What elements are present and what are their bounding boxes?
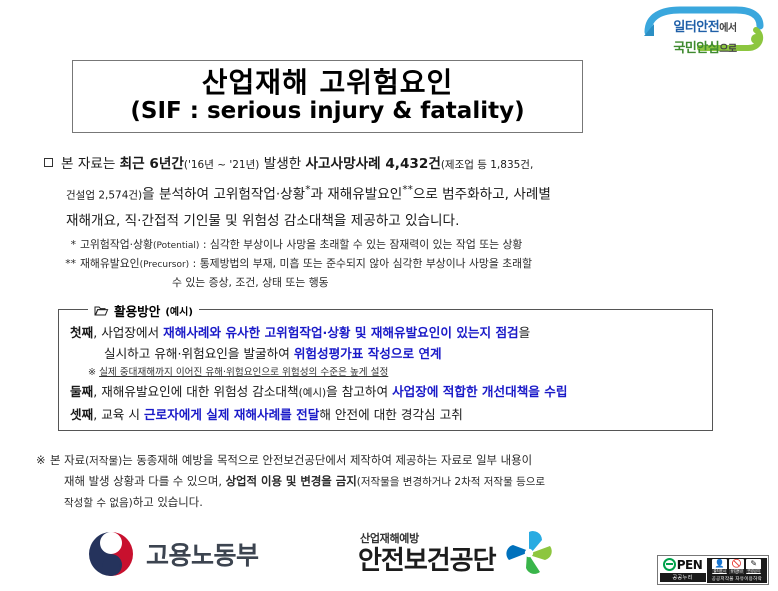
usage-third-blue: 근로자에게 실제 재해사례를 전달 — [144, 407, 319, 422]
footnote-label: 고위험작업·상황 — [80, 238, 153, 251]
usage-second-blue: 사업장에 적합한 개선대책을 수립 — [392, 384, 567, 399]
logo-line2-rest: 으로 — [719, 44, 736, 55]
usage-second-pre2: 을 참고하여 — [326, 384, 392, 399]
disclaimer-line1a: 본 자료 — [50, 453, 85, 467]
disclaimer-mark: ※ — [36, 450, 50, 513]
para-seg3: ('16년 ~ '21년) — [184, 159, 259, 171]
usage-item-third: 셋째, 교육 시 근로자에게 실제 재해사례를 전달해 안전에 대한 경각심 고… — [70, 404, 708, 425]
kosha-text-block: 산업재해예방 안전보건공단 — [358, 533, 496, 574]
disclaimer-line1-small: (저작물) — [85, 455, 122, 467]
footnote-body: 재해유발요인(Precursor) : 통제방법의 부재, 미흡 또는 준수되지… — [80, 255, 750, 291]
kogl-open-text: PEN — [677, 559, 703, 571]
disclaimer-line2-small: (저작물을 변경하거나 2차적 저작물 등으로 — [357, 476, 545, 488]
usage-third-pre: , 교육 시 — [93, 407, 144, 422]
kogl-foot-text: 공공저작물 자유이용허락 — [712, 576, 762, 582]
campaign-logo: 일터안전에서 국민안심으로 — [640, 6, 768, 52]
footnote-row: ** 재해유발요인(Precursor) : 통제방법의 부재, 미흡 또는 준… — [60, 255, 750, 291]
para-seg10: 과 재해유발요인 — [310, 187, 402, 203]
disclaimer-body: 본 자료(저작물)는 동종재해 예방을 목적으로 안전보건공단에서 제작하여 제… — [50, 450, 746, 513]
open-o-icon — [663, 558, 676, 571]
usage-first-blue: 재해사례와 유사한 고위험작업·상황 및 재해유발요인이 있는지 점검 — [163, 325, 519, 340]
kogl-icon-glyph: 👤 — [715, 559, 725, 569]
kosha-subtitle: 산업재해예방 — [360, 533, 496, 544]
page-title-english: (SIF : serious injury & fatality) — [130, 99, 524, 124]
disclaimer-line2a: 재해 발생 상황과 다를 수 있으며, — [64, 474, 226, 488]
usage-item-first: 첫째, 사업장에서 재해사례와 유사한 고위험작업·상황 및 재해유발요인이 있… — [70, 322, 708, 364]
disclaimer-line3b: 하고 있습니다. — [133, 495, 203, 509]
para-seg12: 으로 범주화하고, 사례별 — [413, 187, 551, 203]
footnote-label: 재해유발요인 — [80, 257, 140, 270]
usage-first-line2-pre: 실시하고 유해·위험요인을 발굴하여 — [104, 346, 294, 361]
square-bullet-icon — [44, 158, 53, 167]
usage-legend-title: 활용방안 — [114, 301, 160, 320]
usage-first-pre: , 사업장에서 — [93, 325, 163, 340]
footnote-continuation: 수 있는 증상, 조건, 상태 또는 행동 — [80, 274, 750, 291]
kosha-label: 안전보건공단 — [358, 548, 496, 574]
usage-first-post: 을 — [519, 325, 531, 340]
usage-ordinal-third: 셋째 — [70, 407, 93, 422]
usage-ordinal-first: 첫째 — [70, 325, 93, 340]
kogl-icon-caption: 변경금지 — [746, 569, 761, 574]
footnote-text: : 통제방법의 부재, 미흡 또는 준수되지 않아 심각한 부상이나 사망을 초… — [189, 257, 532, 270]
usage-third-post: 해 안전에 대한 경각심 고취 — [319, 407, 462, 422]
disclaimer-line1b: 는 동종재해 예방을 목적으로 안전보건공단에서 제작하여 제공하는 자료로 일… — [122, 453, 532, 467]
molab-label: 고용노동부 — [146, 536, 259, 572]
kogl-icon-glyph: ✎ — [750, 559, 757, 569]
main-paragraph: 본 자료는 최근 6년간('16년 ~ '21년) 발생한 사고사망사례 4,4… — [44, 152, 744, 234]
kosha-logo: 산업재해예방 안전보건공단 — [358, 522, 558, 584]
kosha-pinwheel-icon — [502, 526, 556, 580]
kogl-open-block: PEN 공공누리 — [660, 558, 706, 583]
logo-line2-bold: 국민안심 — [673, 41, 719, 56]
disclaimer-line2-bold: 상업적 이용 및 변경을 금지 — [226, 474, 357, 488]
kogl-condition-icons: 👤 출처표시 🚫 상업용금지 ✎ 변경금지 — [712, 559, 761, 574]
usage-first-line2-blue: 위험성평가표 작성으로 연계 — [294, 346, 442, 361]
para-seg2: 최근 6년간 — [120, 156, 184, 172]
footnote-mark: * — [60, 236, 80, 255]
footnote-body: 고위험작업·상황(Potential) : 심각한 부상이나 사망을 초래할 수… — [80, 236, 750, 255]
footnote-mark: ** — [60, 255, 80, 291]
kogl-noderivative-icon: ✎ 변경금지 — [746, 559, 761, 574]
footnote-paren: (Potential) — [153, 241, 199, 251]
footnote-paren: (Precursor) — [140, 260, 190, 270]
kogl-icon-glyph: 🚫 — [732, 559, 742, 569]
logo-line1-bold: 일터안전 — [673, 20, 719, 35]
disclaimer-row: ※ 본 자료(저작물)는 동종재해 예방을 목적으로 안전보건공단에서 제작하여… — [36, 450, 746, 513]
usage-note: ※ 실제 중대재해까지 이어진 유해·위험요인으로 위험성의 수준은 높게 설정 — [70, 364, 708, 381]
logo-line1-rest: 에서 — [719, 23, 736, 34]
usage-item-second: 둘째, 재해유발요인에 대한 위험성 감소대책(예시)을 참고하여 사업장에 적… — [70, 381, 708, 404]
para-seg4: 발생한 — [259, 156, 305, 172]
usage-note-text: 실제 중대재해까지 이어진 유해·위험요인으로 위험성의 수준은 높게 설정 — [99, 367, 388, 378]
molab-logo: 고용노동부 — [86, 528, 266, 580]
usage-plan-legend: 활용방안(예시) — [88, 301, 199, 320]
para-seg8: 을 분석하여 고위험작업·상황 — [142, 187, 305, 203]
usage-ordinal-second: 둘째 — [70, 384, 93, 399]
usage-legend-example: (예시) — [165, 303, 193, 318]
kogl-attribution-icon: 👤 출처표시 — [712, 559, 727, 574]
kogl-conditions-block: 👤 출처표시 🚫 상업용금지 ✎ 변경금지 공공저작물 자유이용허락 — [707, 558, 767, 583]
taegeuk-icon — [86, 529, 136, 579]
disclaimer: ※ 본 자료(저작물)는 동종재해 예방을 목적으로 안전보건공단에서 제작하여… — [36, 450, 746, 513]
footnote-text: : 심각한 부상이나 사망을 초래할 수 있는 잠재력이 있는 작업 또는 상황 — [199, 238, 522, 251]
footnotes: * 고위험작업·상황(Potential) : 심각한 부상이나 사망을 초래할… — [60, 236, 750, 291]
usage-second-pre-small: (예시) — [299, 387, 327, 399]
kogl-icon-caption: 출처표시 — [712, 569, 727, 574]
para-seg13: 재해개요, 직·간접적 기인물 및 위험성 감소대책을 제공하고 있습니다. — [44, 209, 744, 234]
folder-icon — [94, 305, 109, 317]
kogl-badge: PEN 공공누리 👤 출처표시 🚫 상업용금지 ✎ 변경금지 공공저작물 자유이… — [657, 555, 769, 585]
title-box: 산업재해 고위험요인 (SIF : serious injury & fatal… — [72, 60, 583, 133]
para-seg5: 사고사망사례 4,432건 — [306, 156, 441, 172]
kogl-noncommercial-icon: 🚫 상업용금지 — [729, 559, 744, 574]
usage-second-pre: , 재해유발요인에 대한 위험성 감소대책 — [93, 384, 298, 399]
kogl-icon-caption: 상업용금지 — [729, 569, 744, 574]
usage-note-mark: ※ — [88, 367, 96, 378]
kogl-sub-text: 공공누리 — [660, 573, 706, 582]
kogl-open-logo: PEN — [663, 558, 703, 571]
page-title-korean: 산업재해 고위험요인 — [202, 68, 454, 98]
footnote-row: * 고위험작업·상황(Potential) : 심각한 부상이나 사망을 초래할… — [60, 236, 750, 255]
para-seg7: 건설업 2,574건) — [66, 190, 142, 202]
para-seg1: 본 자료는 — [61, 156, 120, 172]
usage-plan-content: 첫째, 사업장에서 재해사례와 유사한 고위험작업·상황 및 재해유발요인이 있… — [70, 322, 708, 425]
disclaimer-line3-small: 작성할 수 없음) — [64, 497, 133, 509]
para-seg6: (제조업 등 1,835건, — [441, 159, 533, 171]
para-sup2: ** — [402, 184, 413, 196]
